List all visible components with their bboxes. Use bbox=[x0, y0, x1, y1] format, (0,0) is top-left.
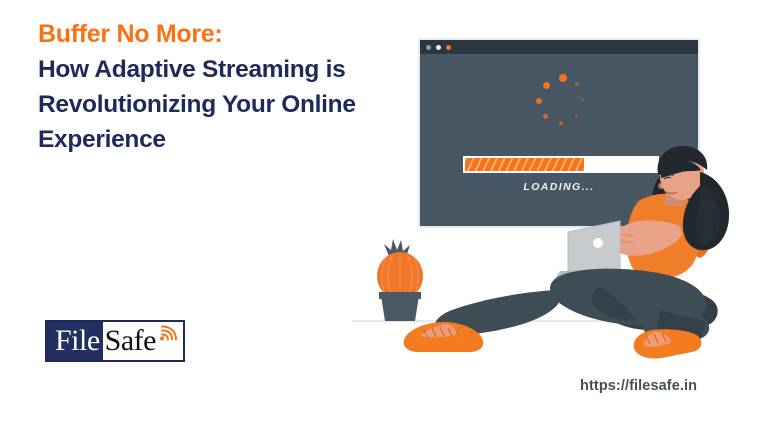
loading-spinner-icon bbox=[531, 74, 587, 130]
blog-banner: Buffer No More: How Adaptive Streaming i… bbox=[0, 0, 768, 432]
window-dot-gray-icon bbox=[426, 45, 431, 50]
logo-text-file: File bbox=[47, 322, 103, 360]
window-dot-white-icon bbox=[436, 45, 441, 50]
logo-safe-panel: Safe bbox=[103, 322, 183, 360]
filesafe-logo[interactable]: File Safe bbox=[45, 320, 185, 362]
headline-main-line-3: Experience bbox=[38, 123, 428, 158]
wifi-signal-icon bbox=[159, 325, 177, 341]
browser-title-bar bbox=[420, 40, 698, 54]
headline-accent-line: Buffer No More: bbox=[38, 18, 428, 50]
headline-block: Buffer No More: How Adaptive Streaming i… bbox=[38, 18, 428, 157]
window-dot-orange-icon bbox=[446, 45, 451, 50]
progress-bar-fill bbox=[465, 158, 584, 171]
potted-cactus-icon bbox=[377, 239, 423, 321]
browser-window-mockup: LOADING... bbox=[418, 38, 700, 228]
headline-main-line-1: How Adaptive Streaming is bbox=[38, 53, 428, 88]
progress-bar-track bbox=[463, 156, 659, 173]
site-url-label[interactable]: https://filesafe.in bbox=[580, 378, 697, 394]
browser-viewport: LOADING... bbox=[420, 54, 698, 226]
logo-text-safe: Safe bbox=[103, 322, 156, 360]
loading-label: LOADING... bbox=[420, 181, 698, 193]
ground-line bbox=[352, 320, 652, 322]
headline-main-line-2: Revolutionizing Your Online bbox=[38, 88, 428, 123]
